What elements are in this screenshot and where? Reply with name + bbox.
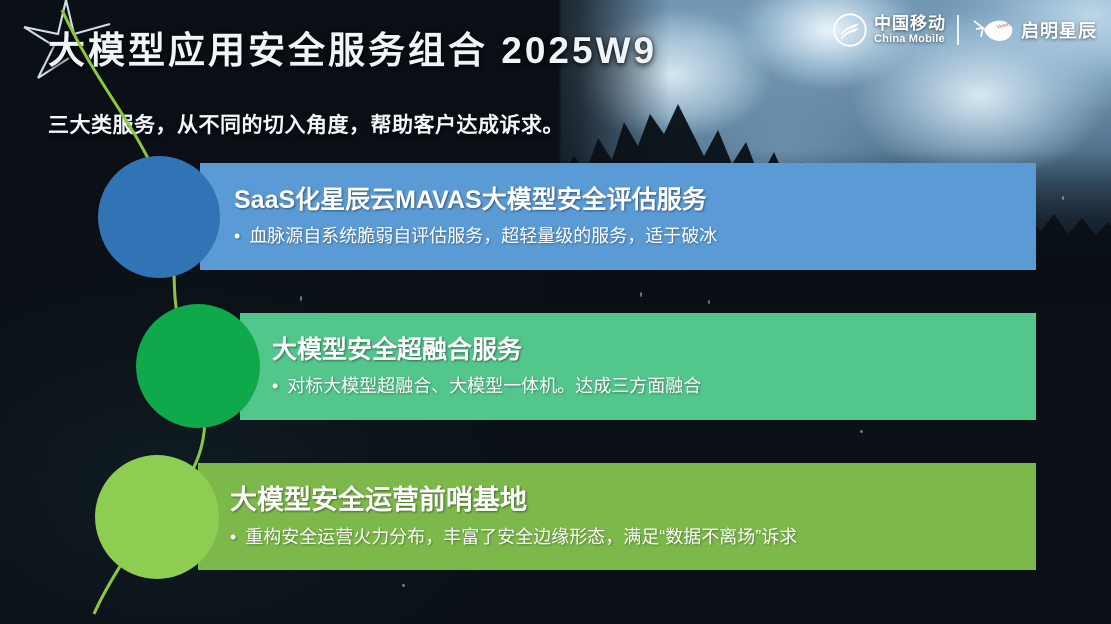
background-speck: [1062, 196, 1064, 200]
venustech-logo-icon: Venus: [970, 15, 1016, 45]
page-subtitle: 三大类服务，从不同的切入角度，帮助客户达成诉求。: [48, 109, 564, 139]
service-circle-2: [136, 304, 260, 428]
china-mobile-logo-cn: 中国移动: [874, 15, 946, 32]
logo-divider: [957, 15, 959, 45]
bullet-dot-icon: •: [230, 526, 236, 549]
service-circle-1: [98, 156, 220, 278]
china-mobile-logo-text: 中国移动 China Mobile: [874, 15, 946, 45]
china-mobile-logo: 中国移动 China Mobile: [833, 13, 946, 47]
venustech-logo-cn: 启明星辰: [1021, 17, 1097, 43]
background-speck: [860, 430, 863, 433]
service-bullet-text-1: 血脉源自系统脆弱自评估服务，超轻量级的服务，适于破冰: [249, 225, 717, 248]
service-bar-2: 大模型安全超融合服务 • 对标大模型超融合、大模型一体机。达成三方面融合: [240, 313, 1036, 420]
service-title-3: 大模型安全运营前哨基地: [230, 485, 1018, 516]
service-bar-1: SaaS化星辰云MAVAS大模型安全评估服务 • 血脉源自系统脆弱自评估服务，超…: [200, 163, 1036, 270]
service-bullet-1: • 血脉源自系统脆弱自评估服务，超轻量级的服务，适于破冰: [234, 225, 1018, 248]
service-circle-3: [95, 455, 219, 579]
background-speck: [708, 300, 710, 304]
service-title-2: 大模型安全超融合服务: [272, 336, 1018, 365]
bullet-dot-icon: •: [272, 375, 278, 398]
service-bullet-text-3: 重构安全运营火力分布，丰富了安全边缘形态，满足“数据不离场”诉求: [245, 526, 797, 549]
service-title-1: SaaS化星辰云MAVAS大模型安全评估服务: [234, 186, 1018, 215]
venustech-logo: Venus 启明星辰: [970, 15, 1097, 45]
service-bar-3: 大模型安全运营前哨基地 • 重构安全运营火力分布，丰富了安全边缘形态，满足“数据…: [198, 463, 1036, 570]
background-speck: [640, 292, 642, 297]
china-mobile-logo-en: China Mobile: [874, 34, 946, 45]
china-mobile-logo-icon: [833, 13, 867, 47]
service-bullet-3: • 重构安全运营火力分布，丰富了安全边缘形态，满足“数据不离场”诉求: [230, 526, 1018, 549]
page-title: 大模型应用安全服务组合 2025W9: [48, 20, 657, 74]
background-speck: [300, 296, 302, 301]
slide-canvas: 大模型应用安全服务组合 2025W9 三大类服务，从不同的切入角度，帮助客户达成…: [0, 0, 1111, 624]
service-bullet-text-2: 对标大模型超融合、大模型一体机。达成三方面融合: [287, 375, 701, 398]
background-speck: [402, 584, 405, 587]
bullet-dot-icon: •: [234, 225, 240, 248]
logo-bar: 中国移动 China Mobile Venus 启明星辰: [833, 10, 1097, 50]
service-bullet-2: • 对标大模型超融合、大模型一体机。达成三方面融合: [272, 375, 1018, 398]
